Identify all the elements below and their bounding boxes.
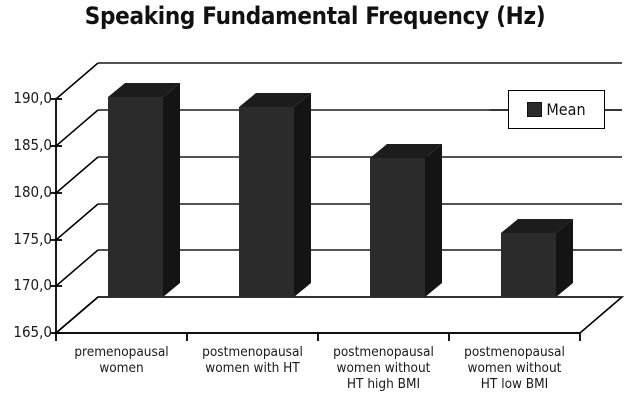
bar-series-mean-1[interactable]	[239, 93, 311, 297]
legend[interactable]: Mean	[508, 90, 605, 129]
x-category-label-2: postmenopausal women without HT high BMI	[318, 344, 449, 392]
bar-series-mean-0[interactable]	[108, 83, 180, 297]
y-tick-label-185: 185,0	[0, 136, 52, 154]
x-category-line: postmenopausal	[187, 344, 318, 360]
bar-side-face	[163, 83, 180, 297]
depth-connectors	[56, 63, 98, 333]
x-category-label-3: postmenopausal women without HT low BMI	[449, 344, 580, 392]
floor-plane	[56, 297, 622, 333]
x-category-line: women	[56, 360, 187, 376]
y-tick-label-190: 190,0	[0, 89, 52, 107]
y-tick-label-170: 170,0	[0, 276, 52, 294]
y-tick-label-175: 175,0	[0, 230, 52, 248]
bar-front-face	[501, 233, 556, 297]
x-axis-ticks	[56, 333, 580, 341]
legend-swatch-icon	[527, 102, 542, 117]
x-category-label-0: premenopausal women	[56, 344, 187, 376]
x-category-line: HT low BMI	[449, 376, 580, 392]
x-category-line: premenopausal	[56, 344, 187, 360]
chart-container: Speaking Fundamental Frequency (Hz)	[0, 0, 630, 404]
bar-series-mean-3[interactable]	[501, 219, 573, 297]
x-category-line: women without	[449, 360, 580, 376]
bar-front-face	[239, 107, 294, 297]
bar-side-face	[294, 93, 311, 297]
bar-series-mean-2[interactable]	[370, 144, 442, 297]
bar-side-face	[425, 144, 442, 297]
y-tick-label-165: 165,0	[0, 323, 52, 341]
x-category-line: women with HT	[187, 360, 318, 376]
bar-front-face	[370, 158, 425, 297]
legend-label: Mean	[546, 100, 585, 119]
y-tick-label-180: 180,0	[0, 183, 52, 201]
x-category-line: women without	[318, 360, 449, 376]
x-category-label-1: postmenopausal women with HT	[187, 344, 318, 376]
x-category-line: HT high BMI	[318, 376, 449, 392]
x-category-line: postmenopausal	[318, 344, 449, 360]
x-category-line: postmenopausal	[449, 344, 580, 360]
bar-front-face	[108, 97, 163, 297]
